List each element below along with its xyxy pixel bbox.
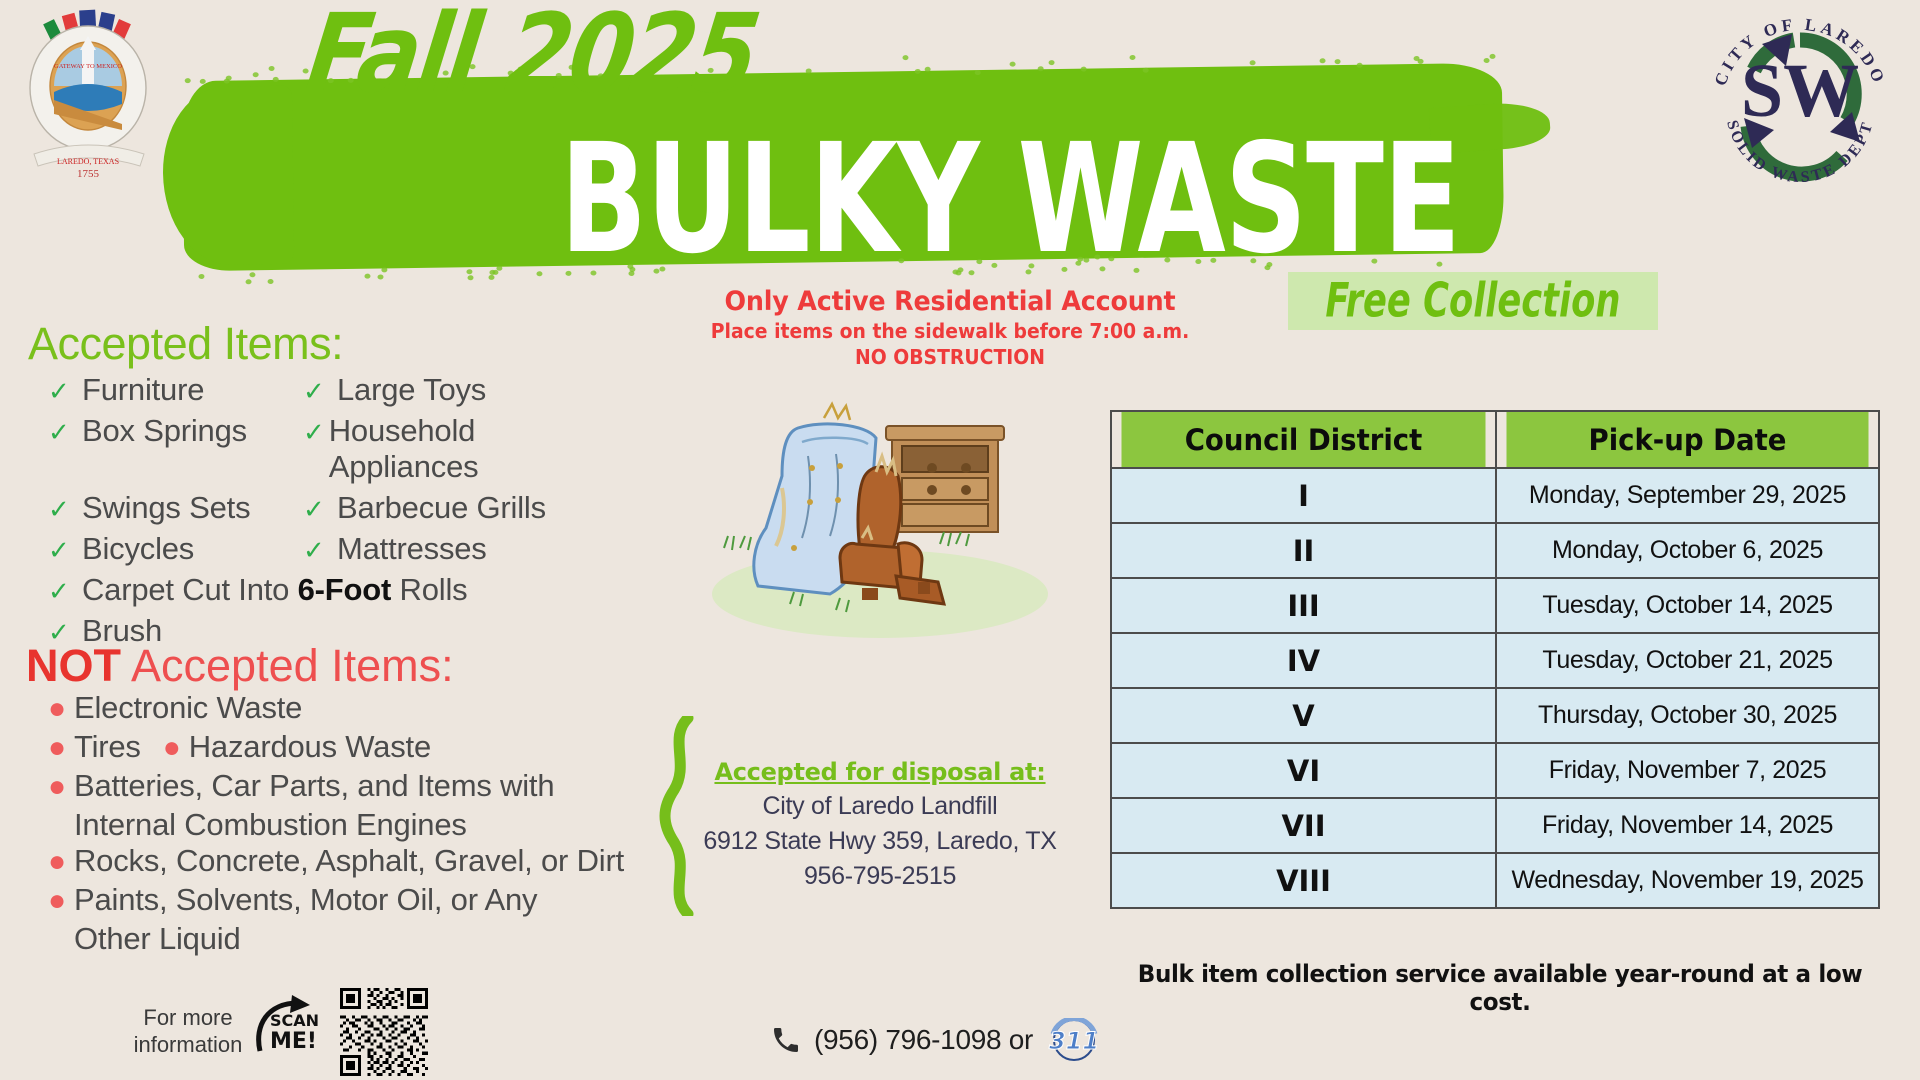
cell-district: II (1111, 523, 1496, 578)
seal-motto-label: GATEWAY TO MEXICO (54, 63, 122, 70)
accepted-items-heading: Accepted Items: (28, 318, 343, 370)
cell-date: Monday, September 29, 2025 (1496, 468, 1879, 523)
brush-speck (226, 75, 232, 80)
bullet-dot-icon: ● (163, 733, 189, 763)
list-item: ✓ Box Springs ✓ Household Appliances (48, 413, 708, 485)
accepted-item-label: Bicycles (82, 531, 194, 567)
seal-place-label: LAREDO, TEXAS (57, 157, 119, 166)
qr-label-line-2: information (134, 1032, 243, 1057)
cell-district: VIII (1111, 853, 1496, 908)
brush-speck (1356, 63, 1362, 68)
cell-district: IV (1111, 633, 1496, 688)
brush-speck (924, 67, 930, 72)
bullet-dot-icon: ● (48, 886, 74, 916)
list-item: ● Tires ● Hazardous Waste (48, 729, 728, 765)
not-accepted-heading-rest: Accepted Items: (121, 640, 454, 691)
not-accepted-item-label: Tires (74, 729, 141, 765)
cell-district: VII (1111, 798, 1496, 853)
cell-date: Thursday, October 30, 2025 (1496, 688, 1879, 743)
season-title: Fall 2025 (300, 0, 765, 117)
bullet-dot-icon: ● (48, 772, 74, 802)
accepted-item-label: Carpet Cut Into (82, 572, 298, 607)
not-accepted-item-label: Rocks, Concrete, Asphalt, Gravel, or Dir… (74, 843, 624, 879)
check-icon: ✓ (303, 535, 337, 566)
list-item: ✓ Carpet Cut Into 6-Foot Rolls (48, 572, 708, 608)
brush-speck (184, 78, 190, 83)
cell-date: Tuesday, October 21, 2025 (1496, 633, 1879, 688)
brush-speck (249, 273, 255, 278)
brush-speck (1130, 55, 1136, 60)
accepted-item-label: Household Appliances (329, 413, 558, 485)
sw-initials-label: SW (1741, 49, 1859, 133)
table-header-row: Council District Pick-up Date (1111, 411, 1879, 468)
check-icon: ✓ (303, 376, 337, 407)
brush-speck (1009, 62, 1015, 67)
free-collection-label: Free Collection (1325, 274, 1620, 329)
city-of-laredo-seal: LAREDO, TEXAS GATEWAY TO MEXICO 1755 (14, 8, 164, 178)
table-row: III Tuesday, October 14, 2025 (1111, 578, 1879, 633)
logo-311-label: 311 (1049, 1027, 1099, 1055)
brush-speck (1049, 60, 1055, 65)
brush-speck (377, 274, 383, 279)
check-icon: ✓ (48, 576, 82, 607)
schedule-footnote: Bulk item collection service available y… (1126, 960, 1875, 1016)
accepted-item-label: Barbecue Grills (337, 490, 546, 526)
table-row: II Monday, October 6, 2025 (1111, 523, 1879, 578)
brush-speck (1250, 60, 1256, 65)
brush-speck (365, 273, 371, 278)
brush-speck (1143, 67, 1149, 72)
scan-me-badge: SCAN ME! (258, 1001, 330, 1063)
brush-speck (975, 70, 981, 75)
table-row: VI Friday, November 7, 2025 (1111, 743, 1879, 798)
table-row: VIII Wednesday, November 19, 2025 (1111, 853, 1879, 908)
brush-speck (806, 69, 812, 74)
brush-speck (199, 79, 205, 84)
notice-line-1: Only Active Residential Account (649, 286, 1251, 317)
page-title: BULKY WASTE (560, 112, 1460, 288)
disposal-info-block: Accepted for disposal at: City of Laredo… (700, 758, 1060, 891)
bullet-dot-icon: ● (48, 694, 74, 724)
bullet-dot-icon: ● (48, 847, 74, 877)
brush-speck (903, 55, 909, 60)
list-item: ● Paints, Solvents, Motor Oil, or Any (48, 882, 728, 918)
qr-label: For more information (128, 1005, 248, 1059)
qr-code-icon[interactable] (340, 988, 428, 1076)
qr-info-block[interactable]: For more information SCAN ME! (128, 988, 428, 1076)
bulky-furniture-illustration (690, 398, 1070, 650)
not-accepted-items-list: ● Electronic Waste ● Tires ● Hazardous W… (48, 690, 728, 957)
accepted-item-label: Swings Sets (82, 490, 250, 526)
accepted-item-label: Box Springs (82, 413, 247, 449)
accepted-items-list: ✓ Furniture ✓ Large Toys ✓ Box Springs ✓… (48, 372, 708, 654)
accepted-item-label: Mattresses (337, 531, 487, 567)
brush-speck (1080, 67, 1086, 72)
brush-speck (496, 266, 502, 271)
contact-phone-label: (956) 796-1098 or (814, 1024, 1033, 1056)
brush-speck (198, 274, 204, 279)
list-item: ✓ Furniture ✓ Large Toys (48, 372, 708, 408)
contact-line: (956) 796-1098 or 311 (770, 1018, 1103, 1062)
list-item: ● Electronic Waste (48, 690, 728, 726)
list-item: ● Batteries, Car Parts, and Items with (48, 768, 728, 804)
check-icon: ✓ (48, 535, 82, 566)
pickup-schedule-table: Council District Pick-up Date I Monday, … (1110, 410, 1880, 909)
check-icon: ✓ (48, 417, 82, 448)
residential-notice: Only Active Residential Account Place it… (630, 286, 1270, 369)
cell-district: VI (1111, 743, 1496, 798)
brush-speck (1319, 58, 1325, 63)
disposal-facility-name: City of Laredo Landfill (700, 792, 1060, 821)
brush-speck (1418, 59, 1424, 64)
column-header-district: Council District (1121, 411, 1487, 468)
phone-icon (770, 1024, 802, 1056)
table-row: IV Tuesday, October 21, 2025 (1111, 633, 1879, 688)
not-accepted-heading: NOT Accepted Items: (26, 640, 454, 692)
scan-me-line-2: ME! (270, 1029, 317, 1054)
brush-speck (267, 279, 273, 284)
list-item: ✓ Bicycles ✓ Mattresses (48, 531, 708, 567)
not-accepted-item-label-secondary: Hazardous Waste (189, 729, 431, 765)
cell-date: Monday, October 6, 2025 (1496, 523, 1879, 578)
brush-speck (488, 275, 494, 280)
disposal-address: 6912 State Hwy 359, Laredo, TX (700, 827, 1060, 856)
table-row: I Monday, September 29, 2025 (1111, 468, 1879, 523)
not-accepted-item-continuation: Other Liquid (74, 921, 728, 957)
cell-district: III (1111, 578, 1496, 633)
column-header-date: Pick-up Date (1506, 411, 1870, 468)
cell-date: Friday, November 14, 2025 (1496, 798, 1879, 853)
free-collection-badge: Free Collection (1288, 272, 1658, 330)
brush-speck (269, 66, 275, 71)
brush-speck (914, 69, 920, 74)
cell-district: V (1111, 688, 1496, 743)
brush-speck (537, 271, 543, 276)
brush-speck (1489, 54, 1495, 59)
bullet-dot-icon: ● (48, 733, 74, 763)
scan-me-line-1: SCAN (270, 1011, 319, 1030)
table-row: V Thursday, October 30, 2025 (1111, 688, 1879, 743)
brush-speck (1038, 67, 1044, 72)
logo-311: 311 (1045, 1018, 1103, 1062)
cell-date: Friday, November 7, 2025 (1496, 743, 1879, 798)
not-accepted-item-continuation: Internal Combustion Engines (74, 807, 728, 843)
accepted-item-label: Furniture (82, 372, 204, 408)
solid-waste-dept-logo: SW CITY OF LAREDO SOLID WASTE DEPT (1700, 8, 1900, 198)
cell-date: Tuesday, October 14, 2025 (1496, 578, 1879, 633)
not-accepted-item-label: Paints, Solvents, Motor Oil, or Any (74, 882, 537, 918)
disposal-phone: 956-795-2515 (700, 862, 1060, 891)
brush-speck (273, 77, 279, 82)
check-icon: ✓ (303, 417, 329, 448)
not-accepted-item-label: Electronic Waste (74, 690, 302, 726)
brush-speck (468, 275, 474, 280)
disposal-heading: Accepted for disposal at: (700, 758, 1060, 786)
table-row: VII Friday, November 14, 2025 (1111, 798, 1879, 853)
check-icon: ✓ (303, 494, 337, 525)
list-item: ● Rocks, Concrete, Asphalt, Gravel, or D… (48, 843, 728, 879)
not-accepted-heading-strong: NOT (26, 640, 121, 691)
seal-year-label: 1755 (77, 168, 100, 178)
brush-speck (253, 72, 259, 77)
check-icon: ✓ (48, 376, 82, 407)
cell-district: I (1111, 468, 1496, 523)
curly-brace-decoration (658, 716, 698, 916)
brush-speck (381, 268, 387, 273)
brush-speck (466, 269, 472, 274)
notice-line-2: Place items on the sidewalk before 7:00 … (649, 319, 1251, 343)
brush-speck (1484, 58, 1490, 63)
accepted-item-suffix: Rolls (391, 572, 467, 607)
cell-date: Wednesday, November 19, 2025 (1496, 853, 1879, 908)
accepted-item-label: Large Toys (337, 372, 486, 408)
brush-speck (1334, 59, 1340, 64)
brush-speck (245, 280, 251, 285)
flyer-canvas: Fall 2025 BULKY WASTE LAREDO, TEXAS GATE… (0, 0, 1920, 1080)
notice-line-3: NO OBSTRUCTION (649, 345, 1251, 369)
not-accepted-item-label: Batteries, Car Parts, and Items with (74, 768, 554, 804)
accepted-item-emphasis: 6-Foot (298, 572, 392, 607)
list-item: ✓ Swings Sets ✓ Barbecue Grills (48, 490, 708, 526)
qr-label-line-1: For more (143, 1005, 232, 1030)
check-icon: ✓ (48, 494, 82, 525)
